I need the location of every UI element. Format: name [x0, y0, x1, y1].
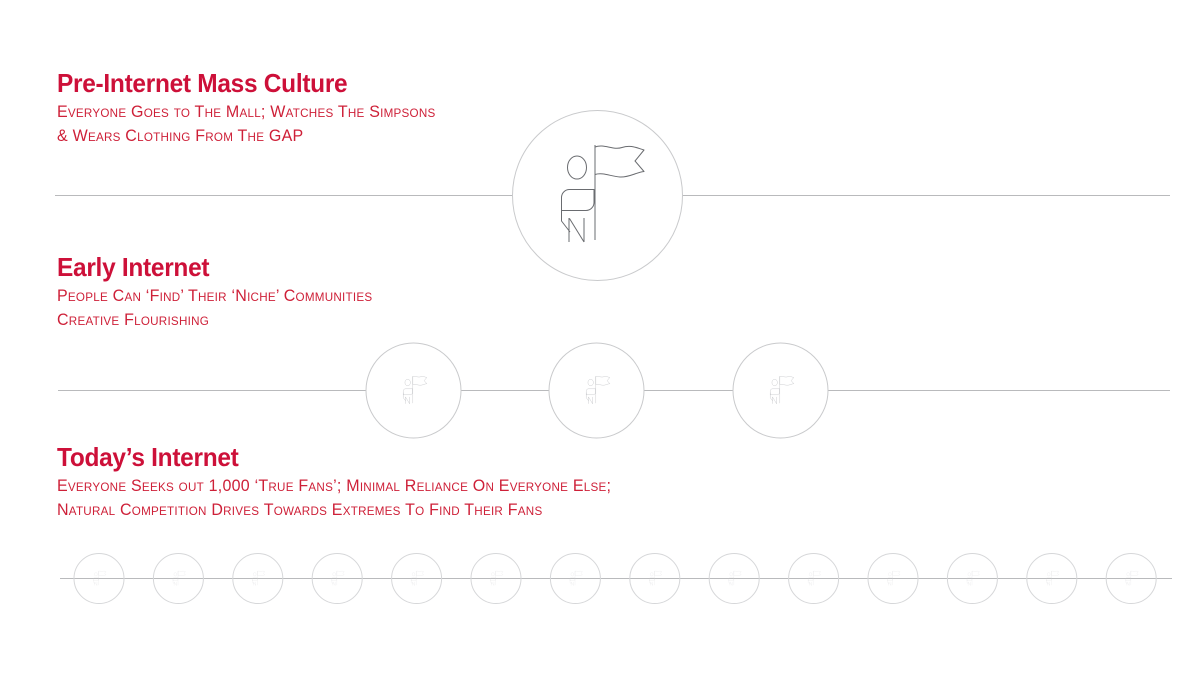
slide-canvas: Pre-Internet Mass Culture Everyone Goes … [0, 0, 1200, 675]
timeline-row-todays-internet [0, 0, 1200, 675]
